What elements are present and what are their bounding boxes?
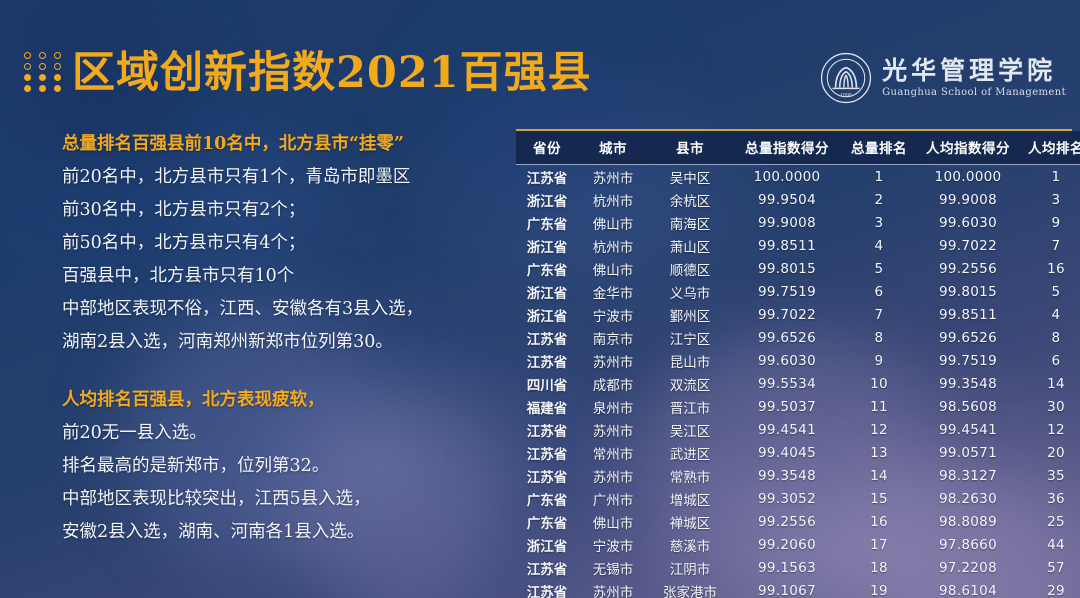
table-cell: 19 <box>842 579 916 598</box>
table-row[interactable]: 江苏省无锡市江阴市99.15631897.220857 <box>516 556 1080 579</box>
table-cell: 16 <box>842 510 916 533</box>
table-cell: 张家港市 <box>648 579 732 598</box>
table-cell: 2 <box>842 188 916 211</box>
table-cell: 7 <box>1020 234 1080 257</box>
table-cell: 金华市 <box>578 280 648 303</box>
table-cell: 15 <box>842 487 916 510</box>
table-cell: 江苏省 <box>516 349 578 372</box>
table-row[interactable]: 四川省成都市双流区99.55341099.354814 <box>516 372 1080 395</box>
table-cell: 广州市 <box>578 487 648 510</box>
table-cell: 宁波市 <box>578 533 648 556</box>
table-cell: 98.5608 <box>916 395 1020 418</box>
table-cell: 99.9008 <box>732 211 842 234</box>
table-cell: 8 <box>842 326 916 349</box>
table-cell: 20 <box>1020 441 1080 464</box>
table-cell: 5 <box>842 257 916 280</box>
table-header: 省份城市县市总量指数得分总量排名人均指数得分人均排名 <box>516 131 1080 165</box>
table-cell: 晋江市 <box>648 395 732 418</box>
brand-logo: 1898 光华管理学院 Guanghua School of Managemen… <box>820 52 1066 104</box>
table-cell: 11 <box>842 395 916 418</box>
table-cell: 6 <box>842 280 916 303</box>
narrative-line: 前20无一县入选。 <box>62 417 492 450</box>
narrative-heading: 人均排名百强县，北方表现疲软， <box>62 384 492 417</box>
table-cell: 萧山区 <box>648 234 732 257</box>
table-cell: 99.4045 <box>732 441 842 464</box>
table-row[interactable]: 浙江省金华市义乌市99.7519699.80155 <box>516 280 1080 303</box>
table-cell: 双流区 <box>648 372 732 395</box>
table-cell: 99.6526 <box>916 326 1020 349</box>
narrative-line: 排名最高的是新郑市，位列第32。 <box>62 450 492 483</box>
table-cell: 浙江省 <box>516 303 578 326</box>
table-row[interactable]: 广东省佛山市顺德区99.8015599.255616 <box>516 257 1080 280</box>
table-cell: 10 <box>842 372 916 395</box>
narrative-line: 百强县中，北方县市只有10个 <box>62 260 492 293</box>
table-cell: 广东省 <box>516 211 578 234</box>
column-header[interactable]: 人均指数得分 <box>916 131 1020 165</box>
table-cell: 99.7022 <box>916 234 1020 257</box>
table-cell: 浙江省 <box>516 234 578 257</box>
table-cell: 慈溪市 <box>648 533 732 556</box>
table-row[interactable]: 浙江省杭州市余杭区99.9504299.90083 <box>516 188 1080 211</box>
column-header[interactable]: 总量指数得分 <box>732 131 842 165</box>
paragraph-spacer <box>62 359 492 384</box>
table-cell: 4 <box>1020 303 1080 326</box>
narrative-line: 前30名中，北方县市只有2个； <box>62 194 492 227</box>
narrative-line: 安徽2县入选，湖南、河南各1县入选。 <box>62 516 492 549</box>
table-cell: 35 <box>1020 464 1080 487</box>
table-cell: 江苏省 <box>516 464 578 487</box>
table-cell: 江苏省 <box>516 441 578 464</box>
table-header-row: 省份城市县市总量指数得分总量排名人均指数得分人均排名 <box>516 131 1080 165</box>
logo-chinese-name: 光华管理学院 <box>882 58 1056 84</box>
table-cell: 禅城区 <box>648 510 732 533</box>
table-cell: 3 <box>1020 188 1080 211</box>
table-row[interactable]: 江苏省南京市江宁区99.6526899.65268 <box>516 326 1080 349</box>
top100-county-table: 省份城市县市总量指数得分总量排名人均指数得分人均排名 江苏省苏州市吴中区100.… <box>516 129 1072 598</box>
table-cell: 江阴市 <box>648 556 732 579</box>
narrative-line: 前20名中，北方县市只有1个，青岛市即墨区 <box>62 161 492 194</box>
table-cell: 25 <box>1020 510 1080 533</box>
table-cell: 南海区 <box>648 211 732 234</box>
table-cell: 常熟市 <box>648 464 732 487</box>
table-row[interactable]: 广东省佛山市禅城区99.25561698.808925 <box>516 510 1080 533</box>
table-cell: 99.2060 <box>732 533 842 556</box>
table-cell: 苏州市 <box>578 579 648 598</box>
table-cell: 99.4541 <box>732 418 842 441</box>
table-row[interactable]: 浙江省宁波市鄞州区99.7022799.85114 <box>516 303 1080 326</box>
table-cell: 99.7519 <box>916 349 1020 372</box>
table-cell: 6 <box>1020 349 1080 372</box>
table-cell: 余杭区 <box>648 188 732 211</box>
table-cell: 苏州市 <box>578 418 648 441</box>
narrative-line: 前50名中，北方县市只有4个； <box>62 227 492 260</box>
table-row[interactable]: 江苏省苏州市常熟市99.35481498.312735 <box>516 464 1080 487</box>
table-cell: 99.3548 <box>732 464 842 487</box>
table-cell: 99.5037 <box>732 395 842 418</box>
table-cell: 常州市 <box>578 441 648 464</box>
table-cell: 17 <box>842 533 916 556</box>
table-row[interactable]: 江苏省常州市武进区99.40451399.057120 <box>516 441 1080 464</box>
table-cell: 江苏省 <box>516 418 578 441</box>
table-cell: 99.7022 <box>732 303 842 326</box>
table-cell: 江苏省 <box>516 556 578 579</box>
table-cell: 99.1563 <box>732 556 842 579</box>
narrative-line: 湖南2县入选，河南郑州新郑市位列第30。 <box>62 326 492 359</box>
table-row[interactable]: 广东省佛山市南海区99.9008399.60309 <box>516 211 1080 234</box>
svg-text:1898: 1898 <box>840 93 852 99</box>
table-cell: 无锡市 <box>578 556 648 579</box>
table-cell: 广东省 <box>516 257 578 280</box>
table-cell: 97.2208 <box>916 556 1020 579</box>
table-cell: 杭州市 <box>578 234 648 257</box>
table-cell: 18 <box>842 556 916 579</box>
table-cell: 98.3127 <box>916 464 1020 487</box>
column-header[interactable]: 省份 <box>516 131 578 165</box>
table-cell: 99.6030 <box>916 211 1020 234</box>
table-cell: 顺德区 <box>648 257 732 280</box>
table-cell: 成都市 <box>578 372 648 395</box>
table-cell: 宁波市 <box>578 303 648 326</box>
table-cell: 99.8511 <box>916 303 1020 326</box>
table-body: 江苏省苏州市吴中区100.00001100.00001浙江省杭州市余杭区99.9… <box>516 165 1080 598</box>
table-cell: 99.0571 <box>916 441 1020 464</box>
presentation-slide: 区域创新指数2021百强县 1898 光华管理学院 Guanghua Schoo… <box>0 0 1080 598</box>
table-cell: 16 <box>1020 257 1080 280</box>
table-cell: 3 <box>842 211 916 234</box>
table-cell: 浙江省 <box>516 280 578 303</box>
table-row[interactable]: 江苏省苏州市昆山市99.6030999.75196 <box>516 349 1080 372</box>
table-row[interactable]: 浙江省杭州市萧山区99.8511499.70227 <box>516 234 1080 257</box>
table-cell: 增城区 <box>648 487 732 510</box>
table-cell: 99.8015 <box>916 280 1020 303</box>
table-cell: 99.9504 <box>732 188 842 211</box>
table-cell: 浙江省 <box>516 188 578 211</box>
table-cell: 杭州市 <box>578 188 648 211</box>
narrative-text-block: 总量排名百强县前10名中，北方县市“挂零”前20名中，北方县市只有1个，青岛市即… <box>62 128 492 549</box>
table-cell: 99.1067 <box>732 579 842 598</box>
table-cell: 99.8015 <box>732 257 842 280</box>
table-cell: 99.2556 <box>732 510 842 533</box>
narrative-heading: 总量排名百强县前10名中，北方县市“挂零” <box>62 128 492 161</box>
table-cell: 29 <box>1020 579 1080 598</box>
table-cell: 吴中区 <box>648 165 732 189</box>
table-cell: 99.7519 <box>732 280 842 303</box>
table-cell: 97.8660 <box>916 533 1020 556</box>
table-cell: 义乌市 <box>648 280 732 303</box>
table-cell: 99.3548 <box>916 372 1020 395</box>
table-cell: 南京市 <box>578 326 648 349</box>
table-cell: 36 <box>1020 487 1080 510</box>
table-cell: 昆山市 <box>648 349 732 372</box>
table-cell: 广东省 <box>516 487 578 510</box>
table-cell: 江苏省 <box>516 326 578 349</box>
table-cell: 99.5534 <box>732 372 842 395</box>
table-row[interactable]: 浙江省宁波市慈溪市99.20601797.866044 <box>516 533 1080 556</box>
table-cell: 99.4541 <box>916 418 1020 441</box>
narrative-line: 中部地区表现不俗，江西、安徽各有3县入选， <box>62 293 492 326</box>
narrative-line: 中部地区表现比较突出，江西5县入选， <box>62 483 492 516</box>
table-cell: 1 <box>842 165 916 189</box>
table-cell: 福建省 <box>516 395 578 418</box>
table-cell: 四川省 <box>516 372 578 395</box>
table-cell: 57 <box>1020 556 1080 579</box>
table-cell: 99.3052 <box>732 487 842 510</box>
table-cell: 99.8511 <box>732 234 842 257</box>
table-cell: 4 <box>842 234 916 257</box>
table-cell: 吴江区 <box>648 418 732 441</box>
peking-university-seal-icon: 1898 <box>820 52 872 104</box>
table-cell: 武进区 <box>648 441 732 464</box>
table-cell: 99.6526 <box>732 326 842 349</box>
table-cell: 佛山市 <box>578 510 648 533</box>
table-cell: 100.0000 <box>732 165 842 189</box>
table-cell: 99.6030 <box>732 349 842 372</box>
column-header[interactable]: 城市 <box>578 131 648 165</box>
table-cell: 苏州市 <box>578 349 648 372</box>
table-cell: 100.0000 <box>916 165 1020 189</box>
table-cell: 14 <box>1020 372 1080 395</box>
table-cell: 鄞州区 <box>648 303 732 326</box>
table-cell: 江苏省 <box>516 579 578 598</box>
table-cell: 14 <box>842 464 916 487</box>
column-header[interactable]: 县市 <box>648 131 732 165</box>
logo-english-name: Guanghua School of Management <box>882 87 1066 98</box>
table-cell: 13 <box>842 441 916 464</box>
table-row[interactable]: 江苏省苏州市吴中区100.00001100.00001 <box>516 165 1080 189</box>
table-cell: 9 <box>842 349 916 372</box>
table-cell: 佛山市 <box>578 211 648 234</box>
table-cell: 30 <box>1020 395 1080 418</box>
table-cell: 江宁区 <box>648 326 732 349</box>
table-cell: 苏州市 <box>578 464 648 487</box>
column-header[interactable]: 人均排名 <box>1020 131 1080 165</box>
column-header[interactable]: 总量排名 <box>842 131 916 165</box>
table-cell: 8 <box>1020 326 1080 349</box>
dot-grid-ornament-icon <box>24 52 64 92</box>
table-row[interactable]: 福建省泉州市晋江市99.50371198.560830 <box>516 395 1080 418</box>
table-cell: 泉州市 <box>578 395 648 418</box>
table-cell: 广东省 <box>516 510 578 533</box>
table-row[interactable]: 江苏省苏州市张家港市99.10671998.610429 <box>516 579 1080 598</box>
table-cell: 9 <box>1020 211 1080 234</box>
table-cell: 5 <box>1020 280 1080 303</box>
page-title: 区域创新指数2021百强县 <box>72 48 592 99</box>
table-cell: 99.2556 <box>916 257 1020 280</box>
table-cell: 佛山市 <box>578 257 648 280</box>
table-row[interactable]: 江苏省苏州市吴江区99.45411299.454112 <box>516 418 1080 441</box>
table-row[interactable]: 广东省广州市增城区99.30521598.263036 <box>516 487 1080 510</box>
table-cell: 98.8089 <box>916 510 1020 533</box>
table-cell: 1 <box>1020 165 1080 189</box>
table-cell: 98.2630 <box>916 487 1020 510</box>
table-cell: 浙江省 <box>516 533 578 556</box>
table-cell: 44 <box>1020 533 1080 556</box>
table-cell: 苏州市 <box>578 165 648 189</box>
table-cell: 12 <box>842 418 916 441</box>
table-cell: 江苏省 <box>516 165 578 189</box>
table-cell: 98.6104 <box>916 579 1020 598</box>
table-cell: 99.9008 <box>916 188 1020 211</box>
table-cell: 7 <box>842 303 916 326</box>
table-cell: 12 <box>1020 418 1080 441</box>
